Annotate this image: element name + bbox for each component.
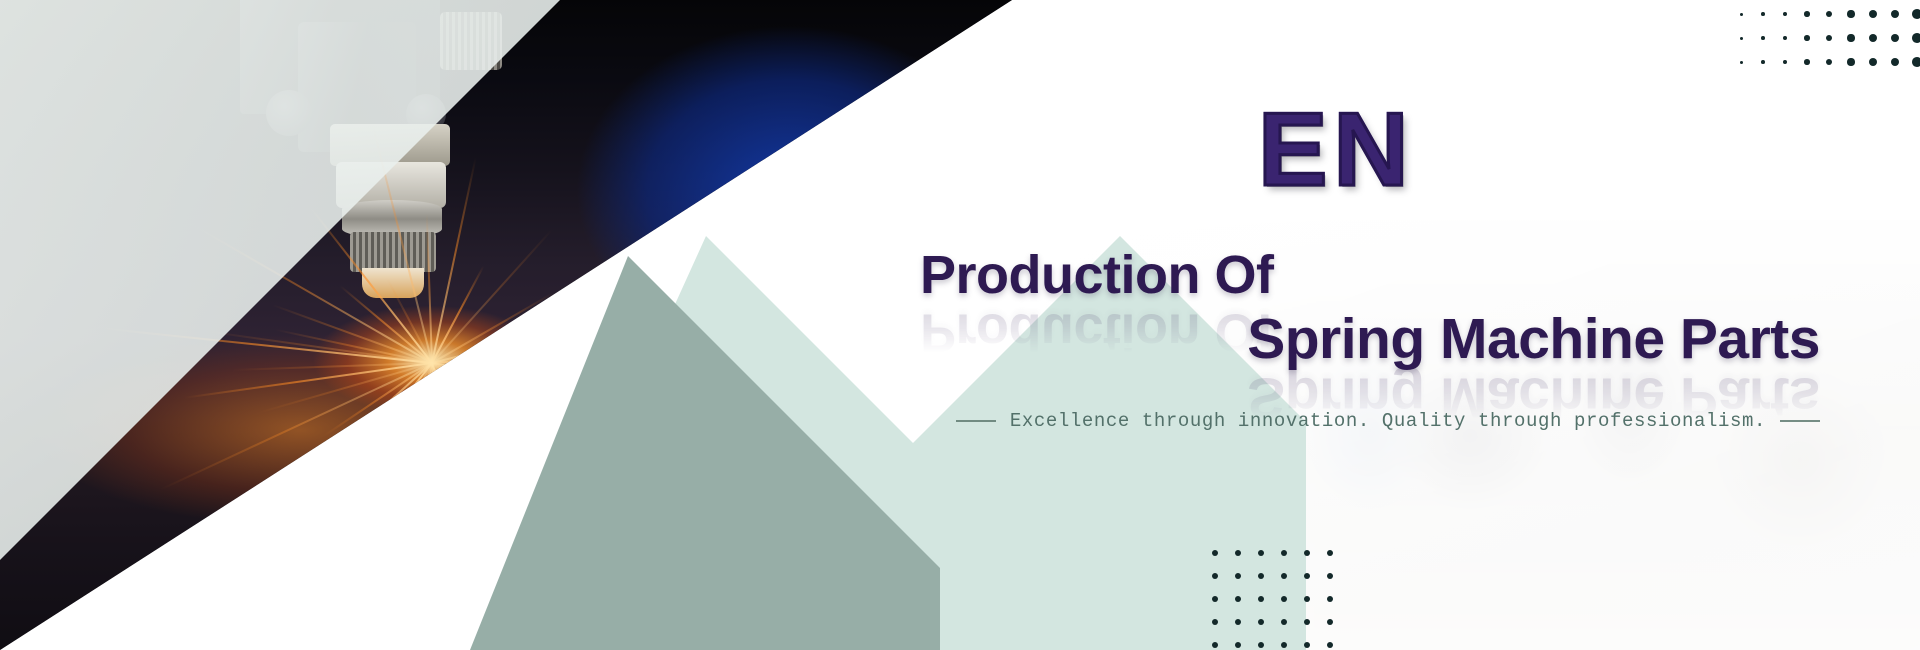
headline-line-1-text: Production Of <box>920 245 1273 305</box>
headline-line-2-text: Spring Machine Parts <box>1247 307 1820 371</box>
dot-grid-bottom-left <box>1212 550 1372 650</box>
tagline: Excellence through innovation. Quality t… <box>920 410 1820 432</box>
hero-banner: EN Production Of Production Of Spring Ma… <box>0 0 1920 650</box>
tagline-rule-right <box>1780 420 1820 422</box>
headline-line-2: Spring Machine Parts Spring Machine Part… <box>920 310 1820 369</box>
tagline-text: Excellence through innovation. Quality t… <box>1010 410 1766 432</box>
headline-line-1: Production Of Production Of <box>920 248 1820 304</box>
tagline-rule-left <box>956 420 996 422</box>
en-logo: EN <box>1258 98 1414 202</box>
dot-grid-top-right <box>1735 6 1920 86</box>
page-title: Production Of Production Of Spring Machi… <box>920 248 1820 368</box>
